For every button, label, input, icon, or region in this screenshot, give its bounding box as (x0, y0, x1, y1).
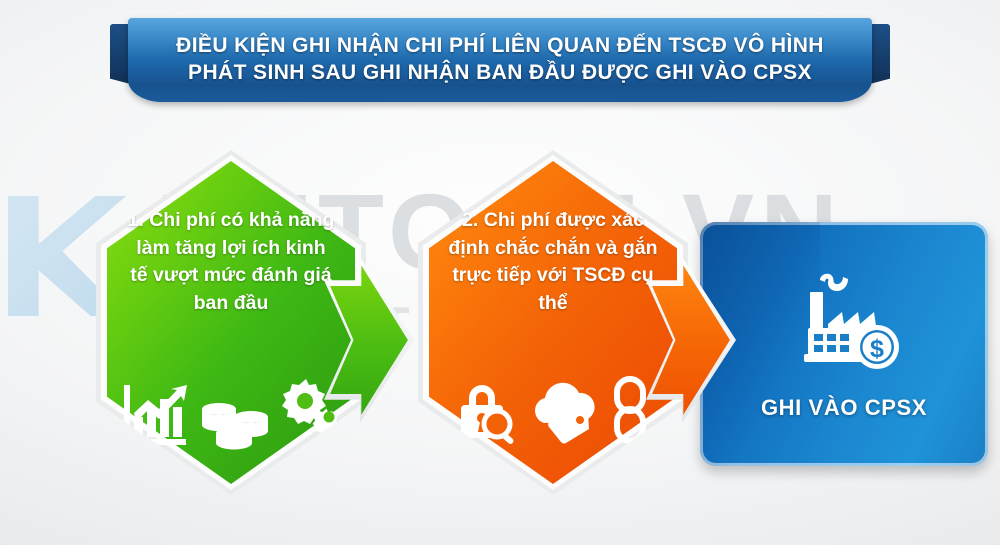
banner-body: ĐIỀU KIỆN GHI NHẬN CHI PHÍ LIÊN QUAN ĐẾN… (128, 18, 872, 102)
svg-text:$: $ (870, 335, 884, 363)
step-1-icons (107, 377, 355, 456)
step-2-text: 2. Chi phí được xác định chắc chắn và gắ… (448, 207, 658, 318)
step-1-hexagon[interactable]: 1. Chi phí có khả năng làm tăng lợi ích … (96, 150, 366, 495)
factory-dollar-icon: $ (780, 268, 908, 379)
lock-search-icon (453, 379, 519, 450)
result-label: GHI VÀO CPSX (761, 395, 927, 421)
step-1-text: 1. Chi phí có khả năng làm tăng lợi ích … (126, 207, 336, 318)
step-2-content: 2. Chi phí được xác định chắc chắn và gắ… (429, 161, 677, 484)
growth-chart-icon (118, 381, 190, 456)
infographic-root: KETOAN.VN KẾ TOÁN & SP ĐIỀU KIỆN GHI NHẬ… (0, 0, 1000, 545)
chain-link-icon (607, 375, 653, 450)
page-title-line-2: PHÁT SINH SAU GHI NHẬN BAN ĐẦU ĐƯỢC GHI … (188, 60, 812, 87)
step-1-content: 1. Chi phí có khả năng làm tăng lợi ích … (107, 161, 355, 484)
result-panel[interactable]: $ GHI VÀO CPSX (700, 222, 988, 466)
title-banner: ĐIỀU KIỆN GHI NHẬN CHI PHÍ LIÊN QUAN ĐẾN… (110, 18, 890, 102)
step-2-icons (429, 375, 677, 450)
coin-stack-icon (199, 385, 273, 456)
step-2-hexagon[interactable]: 2. Chi phí được xác định chắc chắn và gắ… (418, 150, 688, 495)
page-title-line-1: ĐIỀU KIỆN GHI NHẬN CHI PHÍ LIÊN QUAN ĐẾN… (176, 33, 824, 60)
cloud-tag-icon (526, 379, 600, 450)
